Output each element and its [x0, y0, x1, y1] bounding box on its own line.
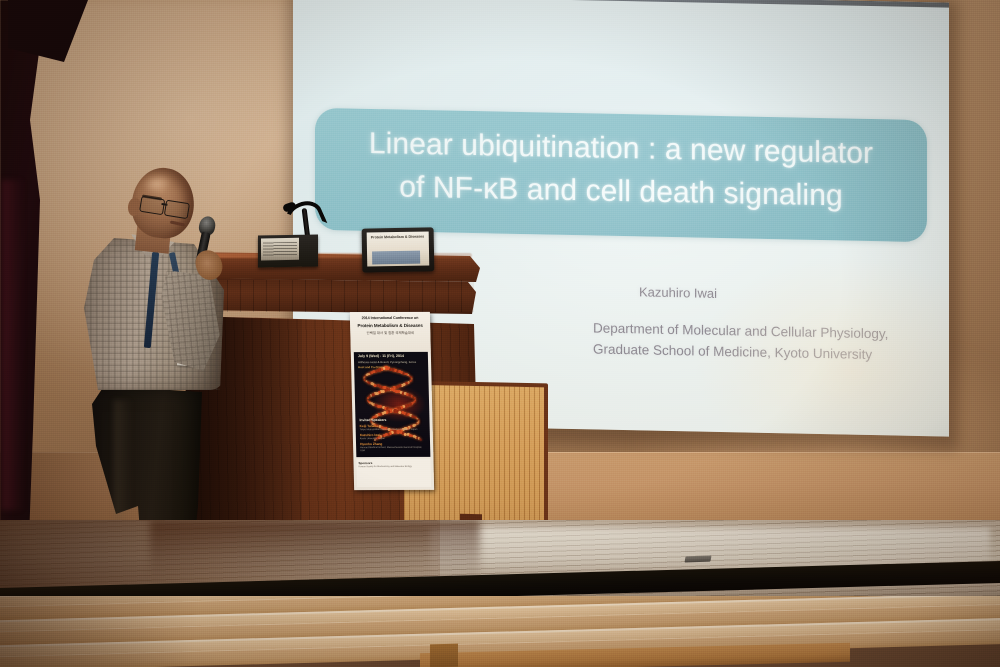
laptop-screen-title: Protein Metabolism & Diseases [371, 235, 424, 241]
poster-venue: Hillhouse Hotel & Resort, Pyeongchang, K… [358, 360, 425, 364]
poster-speaker-affiliation: Kyoto University, Japan [360, 437, 427, 440]
laptop-screen: Protein Metabolism & Diseases [367, 231, 430, 266]
laptop-lid: Protein Metabolism & Diseases [362, 227, 435, 272]
poster-speaker-affiliation: Tokyo Metropolitan Institute of Medical … [360, 428, 427, 431]
poster-date: July 9 (Wed) - 11 (Fri), 2014 [358, 354, 404, 358]
poster-header-line-3: 단백질 대사 및 질환 국제학술대회 [353, 331, 427, 336]
poster-header: 2014 International Conference on Protein… [350, 312, 431, 352]
stage-steps-shadow [0, 596, 260, 667]
poster-header-line-2: Protein Metabolism & Diseases [353, 323, 427, 330]
confidence-monitor [258, 234, 318, 267]
slide-author-name: Kazuhiro Iwai [593, 281, 923, 308]
poster-speakers-heading: Invited Speakers [359, 418, 426, 422]
poster-sponsors-heading: Sponsors [358, 461, 428, 465]
poster-artwork: July 9 (Wed) - 11 (Fri), 2014 Hillhouse … [354, 352, 431, 457]
floor-cable-clip [684, 556, 711, 563]
laptop-screen-image [372, 251, 420, 265]
laptop: Protein Metabolism & Diseases [362, 227, 435, 274]
gooseneck-mic-curve [281, 196, 328, 239]
slide-title: Linear ubiquitination : a new regulator … [315, 122, 927, 219]
poster-speaker-affiliation: Harvard Medical School, Massachusetts Ge… [360, 446, 427, 453]
poster-sponsors-block: Sponsors Korean Society for Biochemistry… [356, 459, 431, 487]
presentation-photo-scene: Linear ubiquitination : a new regulator … [0, 0, 1000, 667]
conference-poster: 2014 International Conference on Protein… [350, 312, 434, 490]
slide-affiliation: Department of Molecular and Cellular Phy… [593, 319, 923, 367]
slide-author-block: Kazuhiro Iwai Department of Molecular an… [593, 281, 923, 367]
foreground-wood-block-end [430, 644, 458, 667]
slide-title-box: Linear ubiquitination : a new regulator … [315, 108, 927, 242]
laptop-screen-text: Protein Metabolism & Diseases [371, 235, 424, 241]
poster-speakers-block: Invited Speakers Keiji Tanaka Tokyo Metr… [359, 418, 427, 454]
poster-header-line-1: 2014 International Conference on [353, 316, 427, 322]
confidence-monitor-screen [261, 238, 299, 261]
poster-sponsors-body: Korean Society for Biochemistry and Mole… [359, 466, 429, 469]
stage-curtain-highlight [2, 180, 24, 510]
screen-top-bar [293, 0, 949, 8]
